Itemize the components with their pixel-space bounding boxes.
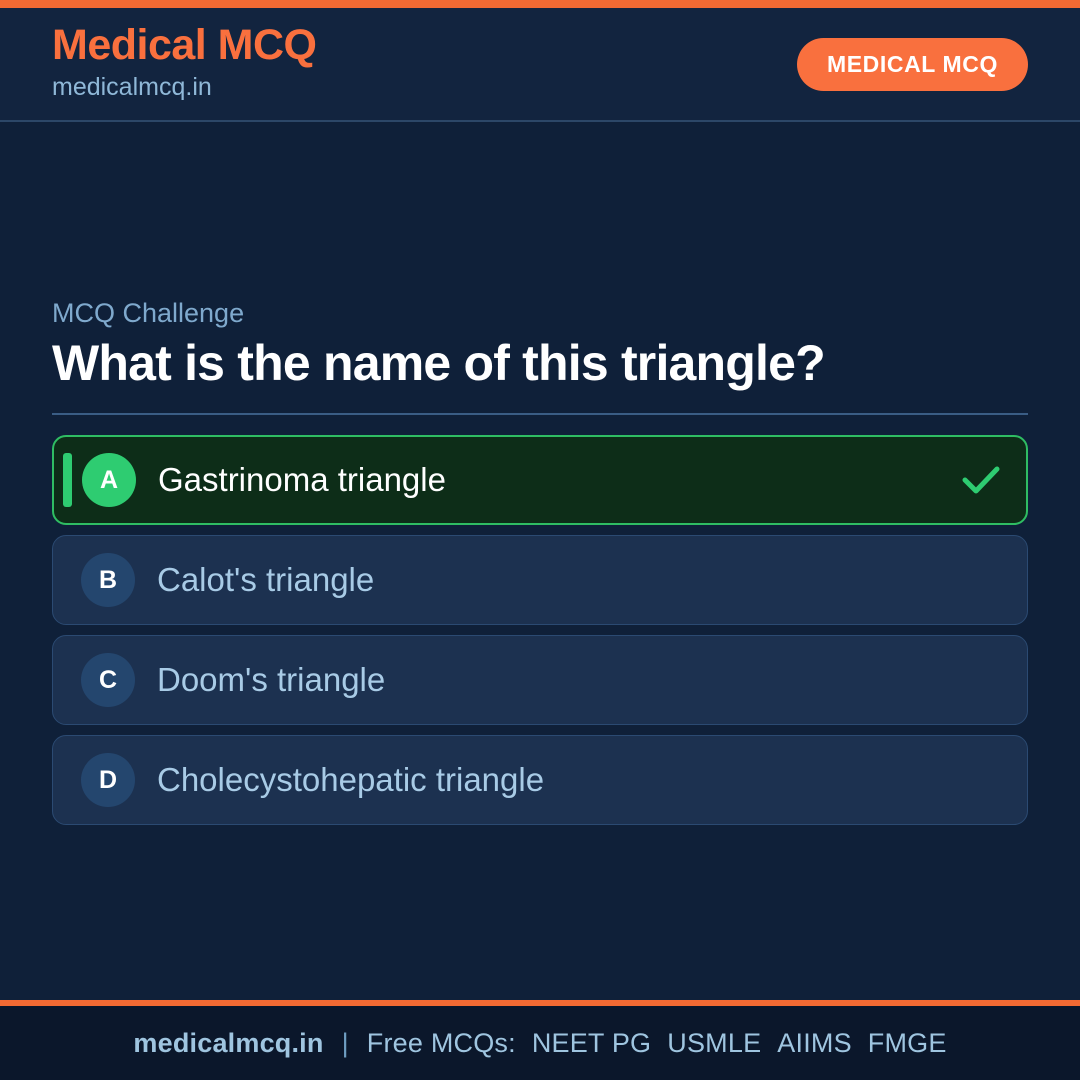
brand-subtitle: medicalmcq.in — [52, 71, 317, 105]
answer-option-d[interactable]: D Cholecystohepatic triangle — [52, 735, 1028, 825]
top-accent-bar — [0, 0, 1080, 8]
option-text-b: Calot's triangle — [157, 560, 961, 600]
title-divider — [52, 413, 1028, 415]
option-letter-badge-d: D — [81, 753, 135, 807]
answer-option-c[interactable]: C Doom's triangle — [52, 635, 1028, 725]
option-text-c: Doom's triangle — [157, 660, 961, 700]
main-content: MCQ Challenge What is the name of this t… — [0, 122, 1080, 1000]
answer-option-a[interactable]: A Gastrinoma triangle — [52, 435, 1028, 525]
footer-exam-neet-pg: NEET PG — [532, 1028, 651, 1059]
header-badge: MEDICAL MCQ — [797, 38, 1028, 91]
page-footer: medicalmcq.in | Free MCQs: NEET PG USMLE… — [0, 1006, 1080, 1080]
footer-exam-aiims: AIIMS — [777, 1028, 852, 1059]
option-text-a: Gastrinoma triangle — [158, 460, 960, 500]
option-letter-badge-c: C — [81, 653, 135, 707]
footer-exam-fmge: FMGE — [868, 1028, 947, 1059]
footer-site-link[interactable]: medicalmcq.in — [133, 1028, 323, 1059]
page-title: What is the name of this triangle? — [52, 335, 1028, 391]
correct-check-icon — [960, 463, 1002, 497]
option-text-d: Cholecystohepatic triangle — [157, 760, 961, 800]
answer-option-b[interactable]: B Calot's triangle — [52, 535, 1028, 625]
footer-separator: | — [342, 1028, 349, 1059]
option-letter-badge-b: B — [81, 553, 135, 607]
answer-options-list: A Gastrinoma triangle B Calot's triangle… — [52, 435, 1028, 825]
eyebrow-label: MCQ Challenge — [52, 297, 1028, 329]
brand-block: Medical MCQ medicalmcq.in — [52, 23, 317, 105]
footer-label: Free MCQs: — [367, 1028, 516, 1059]
footer-exam-usmle: USMLE — [667, 1028, 761, 1059]
page-header: Medical MCQ medicalmcq.in MEDICAL MCQ — [0, 8, 1080, 122]
brand-title: Medical MCQ — [52, 23, 317, 68]
option-letter-badge-a: A — [82, 453, 136, 507]
